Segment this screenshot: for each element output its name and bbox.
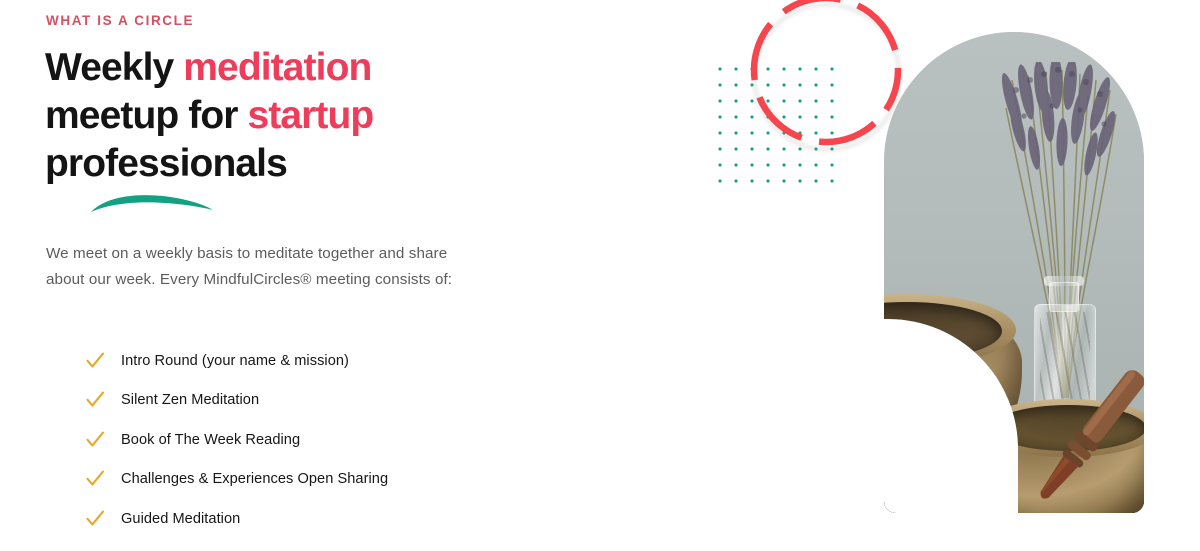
check-icon [85, 430, 105, 450]
list-item: Challenges & Experiences Open Sharing [45, 460, 605, 500]
check-icon [85, 469, 105, 489]
headline-line-1-plain: Weekly [45, 46, 183, 89]
list-item-label: Guided Meditation [121, 511, 240, 527]
list-item-label: Book of The Week Reading [121, 432, 300, 448]
lead-paragraph: We meet on a weekly basis to meditate to… [46, 241, 466, 293]
check-icon [85, 390, 105, 410]
swoosh-underline-icon [89, 191, 215, 217]
checklist: Intro Round (your name & mission) Silent… [45, 341, 605, 539]
hero-visual [690, 0, 1200, 551]
lavender-flowers-icon [996, 62, 1128, 232]
list-item-label: Intro Round (your name & mission) [121, 353, 349, 369]
check-icon [85, 509, 105, 529]
headline-line-3-plain: professionals [45, 142, 287, 185]
hero-section: WHAT IS A CIRCLE Weekly meditation meetu… [0, 0, 1200, 551]
list-item: Intro Round (your name & mission) [45, 341, 605, 381]
headline-line-1-highlight: meditation [183, 46, 371, 89]
list-item-label: Challenges & Experiences Open Sharing [121, 471, 388, 487]
list-item: Book of The Week Reading [45, 420, 605, 460]
hero-photo-frame [884, 32, 1144, 513]
list-item: Guided Meditation [45, 499, 605, 539]
page-title: Weekly meditation meetup for startup pro… [45, 44, 525, 188]
list-item-label: Silent Zen Meditation [121, 392, 259, 408]
eyebrow-label: WHAT IS A CIRCLE [46, 14, 194, 28]
content-column: WHAT IS A CIRCLE Weekly meditation meetu… [45, 0, 665, 551]
headline-line-2-highlight: startup [247, 94, 373, 137]
list-item: Silent Zen Meditation [45, 381, 605, 421]
headline-line-2-plain: meetup for [45, 94, 247, 137]
check-icon [85, 351, 105, 371]
dashed-ring-icon [748, 0, 904, 148]
hero-photo [884, 32, 1144, 513]
wooden-mallet-icon [1024, 350, 1144, 513]
